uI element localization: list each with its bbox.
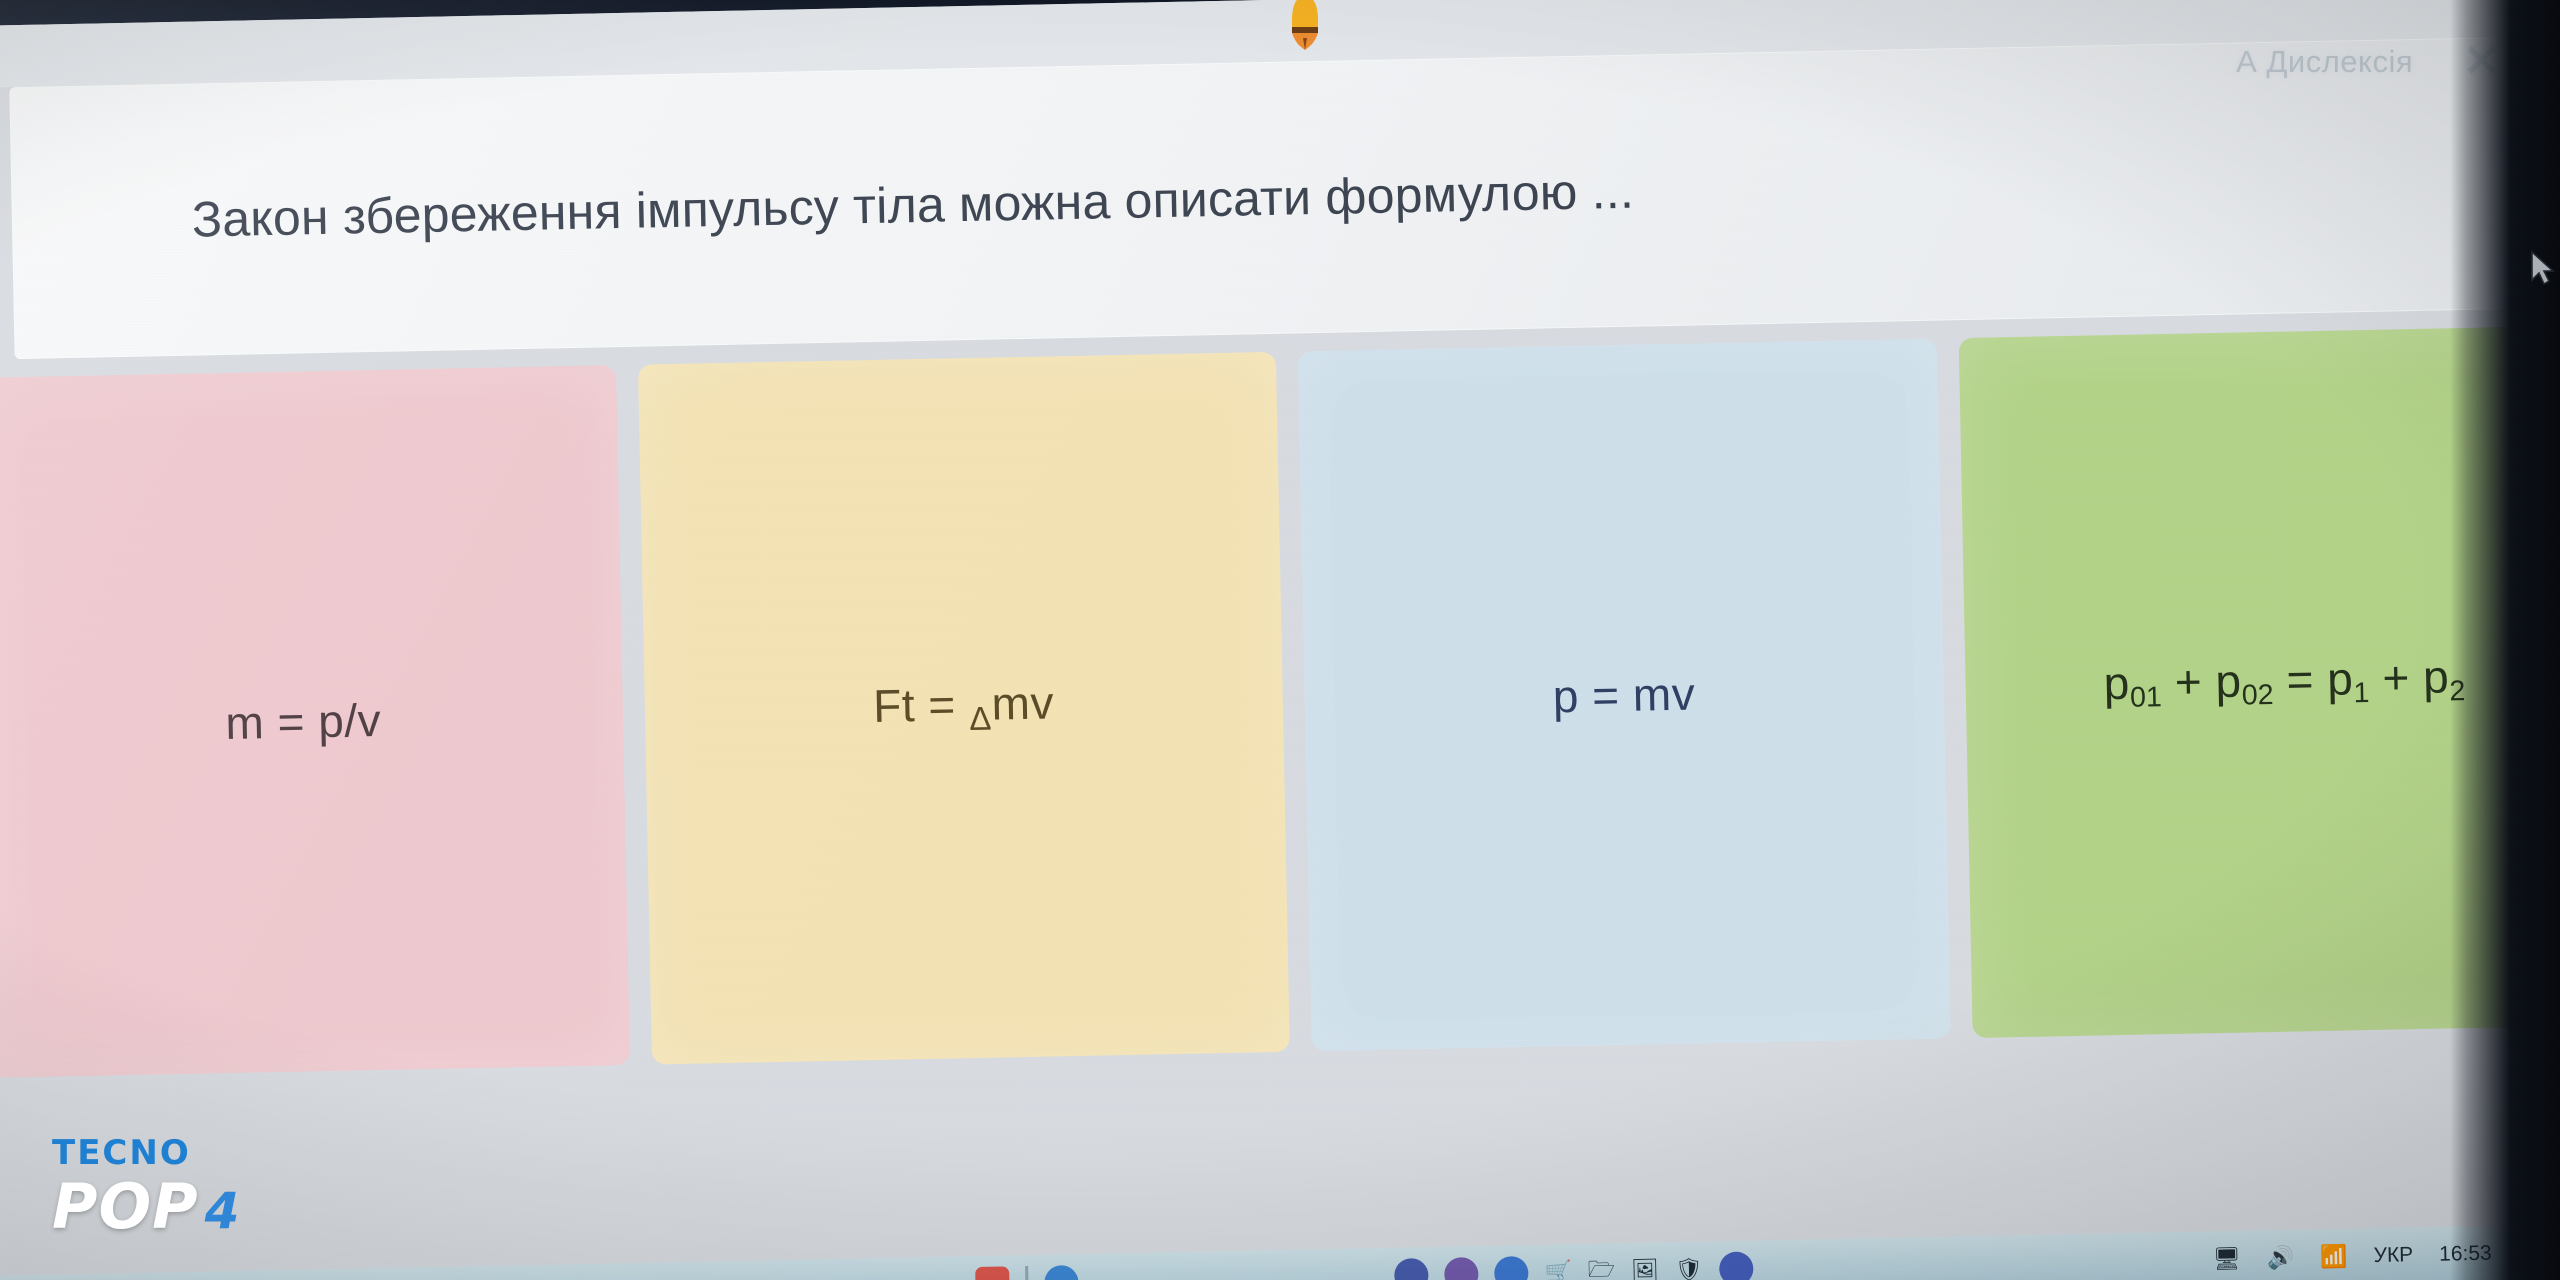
answer-a-formula: m = p/v [225,693,382,750]
edge-icon[interactable] [1044,1265,1079,1280]
network-icon[interactable]: 🖥 [2213,1246,2241,1273]
windows-taskbar: 🛒 🗁 🖼 🛡 🖥 🔊 📶 УКР 16:53 💬 [0,1223,2560,1280]
camera-watermark: TECNO POP 4 [52,1136,239,1238]
token-eq: = [2273,652,2328,705]
mouse-cursor-icon [2530,250,2556,293]
delta-glyph: Δ [969,701,992,738]
dyslexia-toggle-button[interactable]: А Дислексія [2236,44,2413,80]
security-shield-icon[interactable]: 🛡 [1675,1256,1703,1280]
answer-b-lhs: Ft = [873,678,970,732]
store-icon[interactable]: 🛒 [1544,1259,1572,1280]
watermark-brand: TECNO [52,1136,239,1170]
token-p4: p [2422,650,2449,703]
mail-icon[interactable] [1394,1258,1429,1280]
rocket-icon[interactable] [1282,0,1328,50]
monitor-bezel-right [2450,0,2560,1280]
dyslexia-toggle-label: А Дислексія [2236,44,2413,80]
photo-of-monitor: А Дислексія ✕ Закон збереження імпульсу … [0,0,2560,1280]
volume-icon[interactable]: 🔊 [2267,1245,2295,1272]
watermark-model-number: 4 [205,1186,240,1236]
token-s3: 1 [2353,676,2369,708]
taskbar-divider [1025,1266,1029,1280]
question-panel: Закон збереження імпульсу тіла можна опи… [9,37,2534,360]
screen-content-plane: Закон збереження імпульсу тіла можна опи… [0,0,2560,1280]
answers-row: m = p/v Ft = Δmv p = mv p01 + p02 = p1 +… [0,325,2560,1077]
quiz-app-window: Закон збереження імпульсу тіла можна опи… [0,0,2560,1280]
watermark-model-line: POP 4 [52,1176,239,1238]
watermark-model: POP [52,1176,199,1238]
cortana-icon[interactable] [1719,1251,1754,1280]
token-p1: p [2103,656,2130,709]
token-op2: + [2369,650,2424,703]
answer-card-a[interactable]: m = p/v [0,365,629,1078]
token-op1: + [2161,655,2216,708]
token-s2: 02 [2241,678,2273,711]
start-icon[interactable] [975,1266,1010,1280]
taskbar-pinned-apps: 🛒 🗁 🖼 🛡 [0,1249,1753,1280]
folder-icon[interactable]: 🗁 [1587,1252,1615,1280]
token-p2: p [2215,654,2242,707]
token-p3: p [2327,652,2354,705]
chrome-icon[interactable] [1494,1256,1529,1280]
answer-b-rhs: mv [991,676,1054,729]
answer-card-b[interactable]: Ft = Δmv [637,352,1289,1065]
answer-c-formula: p = mv [1552,667,1695,724]
answer-b-formula: Ft = Δmv [873,675,1055,741]
taskbar-language[interactable]: УКР [2373,1243,2413,1268]
answer-d-formula: p01 + p02 = p1 + p2 [2103,649,2465,715]
answer-card-c[interactable]: p = mv [1298,339,1950,1052]
photos-icon[interactable]: 🖼 [1631,1257,1659,1280]
question-text: Закон збереження імпульсу тіла можна опи… [191,159,1634,250]
explorer-icon[interactable] [1444,1257,1479,1280]
token-s1: 01 [2130,681,2162,714]
wifi-icon[interactable]: 📶 [2320,1244,2348,1271]
